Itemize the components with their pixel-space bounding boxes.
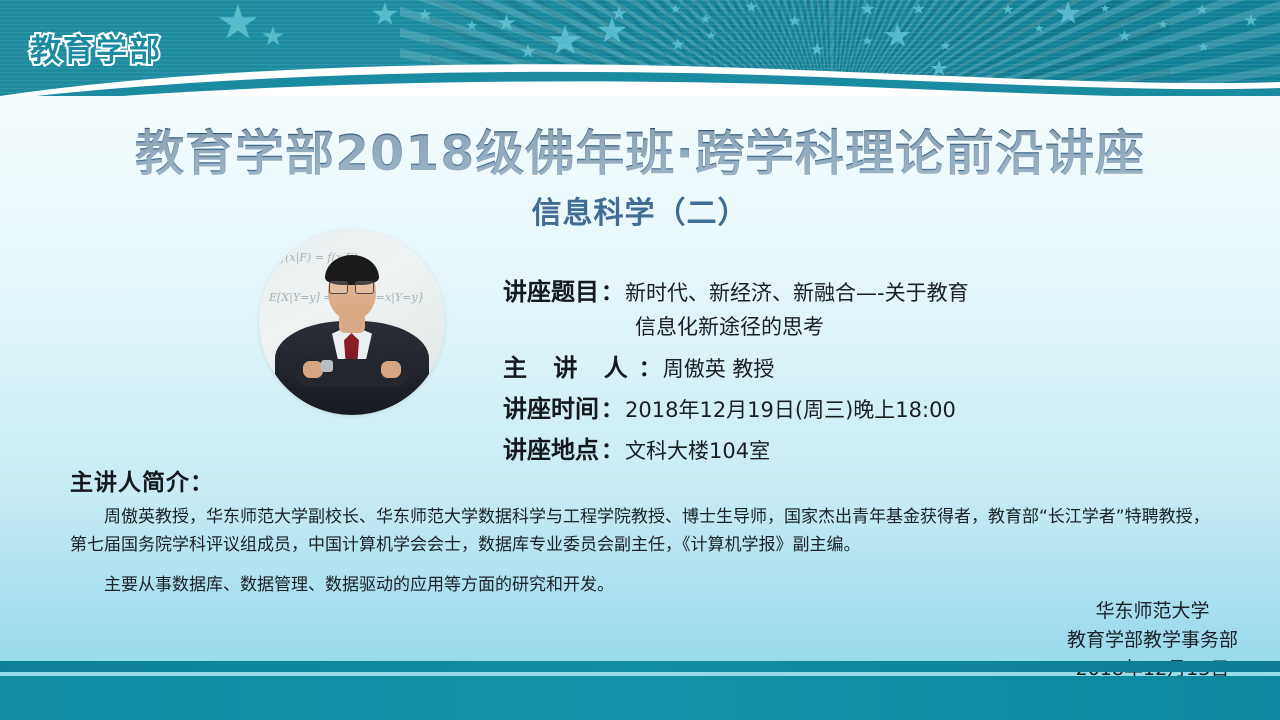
bio-body: 周傲英教授，华东师范大学副校长、华东师范大学数据科学与工程学院教授、博士生导师，… <box>70 503 1215 599</box>
info-row-speaker: 主 讲 人 ： 周傲英 教授 <box>503 348 1203 383</box>
lecture-info: 讲座题目 ： 新时代、新经济、新融合—-关于教育 信息化新途径的思考 主 讲 人… <box>503 272 1203 471</box>
info-row-time: 讲座时间 ： 2018年12月19日(周三)晚上18:00 <box>503 389 1203 424</box>
footer-band <box>0 676 1280 720</box>
info-label: 主 讲 人 <box>503 348 637 383</box>
info-colon: ： <box>599 433 625 465</box>
info-row-location: 讲座地点 ： 文科大楼104室 <box>503 430 1203 465</box>
signature-department: 教育学部教学事务部 <box>1067 626 1238 655</box>
portrait-hand-left <box>303 361 323 378</box>
info-colon: ： <box>637 351 663 383</box>
bio-paragraph: 主要从事数据库、数据管理、数据驱动的应用等方面的研究和开发。 <box>70 571 1215 599</box>
portrait-hand-right <box>381 361 401 378</box>
info-label: 讲座题目 <box>503 272 599 307</box>
info-value: 文科大楼104室 <box>625 435 770 465</box>
info-label: 讲座时间 <box>503 389 599 424</box>
footer-accent-stripe <box>0 661 1280 672</box>
header-banner: 教育学部 <box>0 0 1280 96</box>
portrait-wristwatch <box>321 360 333 372</box>
info-label: 讲座地点 <box>503 430 599 465</box>
bio-heading: 主讲人简介： <box>70 463 214 497</box>
info-value: 2018年12月19日(周三)晚上18:00 <box>625 394 956 424</box>
info-topic-line2: 信息化新途径的思考 <box>635 311 1203 341</box>
wave-divider <box>0 56 1280 96</box>
signature-organization: 华东师范大学 <box>1067 597 1238 626</box>
info-value: 周傲英 教授 <box>663 353 775 383</box>
page-subtitle: 信息科学（二） <box>0 188 1280 232</box>
info-colon: ： <box>599 392 625 424</box>
info-value: 新时代、新经济、新融合—-关于教育 <box>625 277 969 307</box>
department-logo: 教育学部 <box>20 22 172 75</box>
portrait-glasses <box>329 281 375 292</box>
page-title: 教育学部2018级佛年班·跨学科理论前沿讲座 <box>0 114 1280 185</box>
speaker-portrait: f(x|F) = f(x,F) E[X|Y=y] = Σx·P{X=x|Y=y} <box>259 229 445 415</box>
info-row-topic: 讲座题目 ： 新时代、新经济、新融合—-关于教育 <box>503 272 1203 307</box>
bio-paragraph: 周傲英教授，华东师范大学副校长、华东师范大学数据科学与工程学院教授、博士生导师，… <box>70 503 1215 559</box>
info-colon: ： <box>599 275 625 307</box>
poster-root: 教育学部 教育学部2018级佛年班·跨学科理论前沿讲座 信息科学（二） f(x|… <box>0 0 1280 720</box>
